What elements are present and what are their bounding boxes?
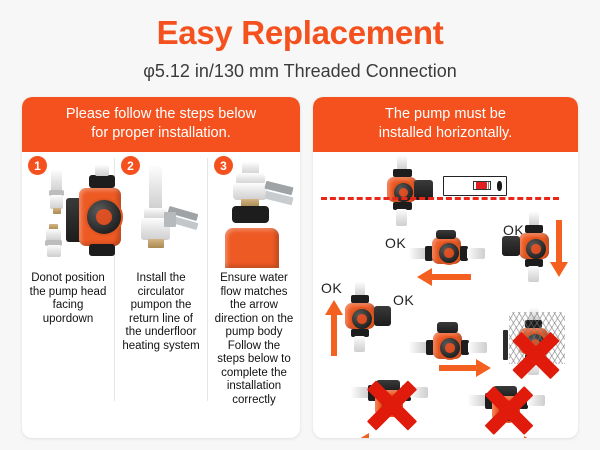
step-item-2: 2 Install the circulator pumpon the retu…	[115, 152, 207, 407]
step-caption-1: Donot position the pump head facing upor…	[25, 268, 111, 326]
ok-label-1: OK	[385, 235, 406, 251]
infographic-page: Easy Replacement φ5.12 in/130 mm Threade…	[0, 0, 600, 450]
ok-label-4-visible: OK	[393, 292, 414, 308]
horizontal-reference-dashed-line	[321, 197, 559, 200]
right-panel-body: OK OK	[313, 152, 578, 438]
level-knob	[497, 181, 503, 191]
step-item-3: 3 Ensure water flow matches the arrow di…	[208, 152, 300, 407]
page-subtitle: φ5.12 in/130 mm Threaded Connection	[0, 60, 600, 82]
level-bubble	[476, 182, 487, 188]
step-number-badge-3: 3	[214, 156, 233, 175]
prohibited-x-mark-2	[363, 376, 421, 434]
page-title: Easy Replacement	[0, 14, 600, 52]
left-panel-header-line2: for proper installation.	[28, 124, 294, 143]
right-panel-header: The pump must be installed horizontally.	[313, 97, 578, 152]
prohibited-x-mark-1	[509, 328, 563, 382]
steps-row: 1	[22, 152, 300, 407]
spirit-level-gauge	[443, 176, 507, 196]
step-caption-3: Ensure water flow matches the arrow dire…	[211, 268, 297, 407]
step-caption-2: Install the circulator pumpon the return…	[118, 268, 204, 353]
step-number-badge-1: 1	[28, 156, 47, 175]
right-panel-header-line1: The pump must be	[319, 105, 572, 124]
step-item-1: 1	[22, 152, 114, 407]
left-panel-header: Please follow the steps below for proper…	[22, 97, 300, 152]
step-number-badge-2: 2	[121, 156, 140, 175]
installation-steps-panel: Please follow the steps below for proper…	[22, 97, 300, 438]
horizontal-install-panel: The pump must be installed horizontally.	[313, 97, 578, 438]
ok-label-3: OK	[321, 280, 342, 296]
prohibited-x-mark-3	[481, 382, 537, 438]
left-panel-body: 1	[22, 152, 300, 407]
left-panel-header-line1: Please follow the steps below	[28, 105, 294, 124]
right-panel-header-line2: installed horizontally.	[319, 124, 572, 143]
